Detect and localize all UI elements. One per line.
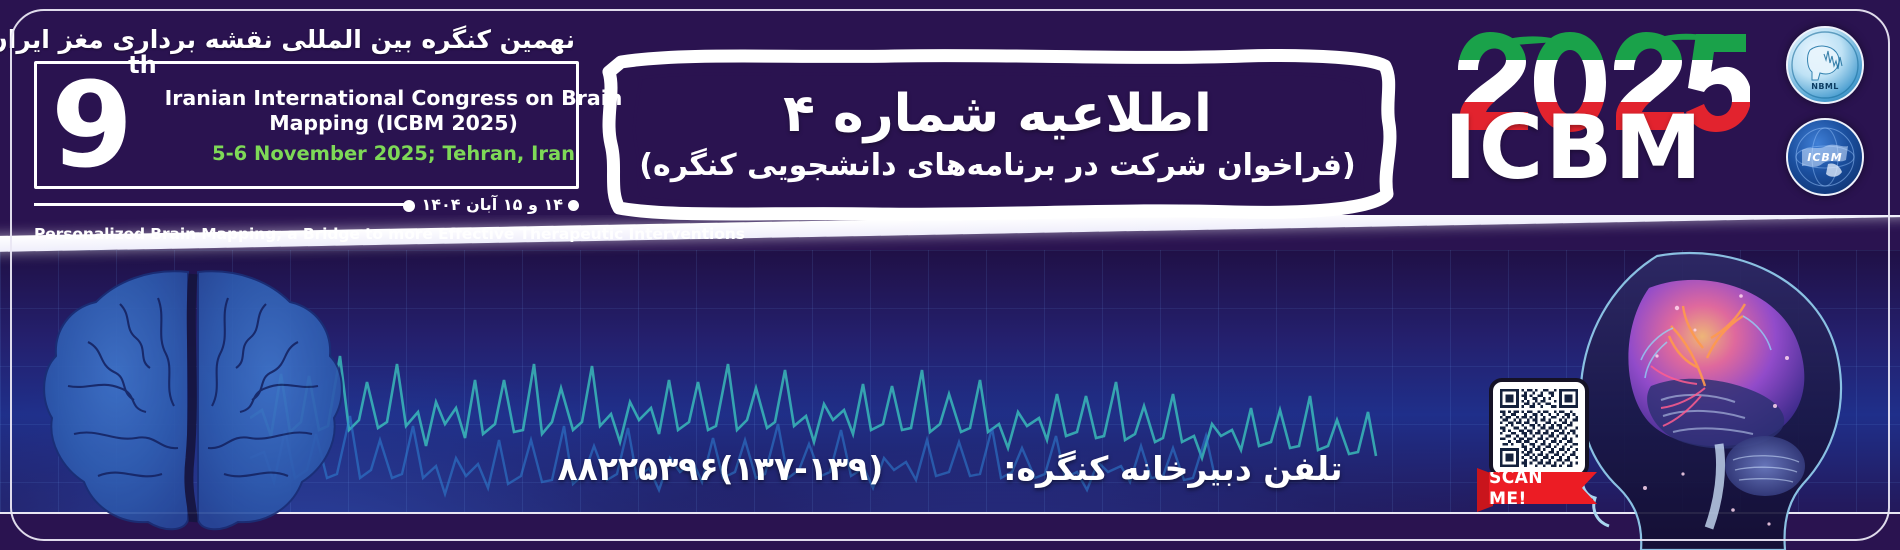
- nbml-badge: NBML: [1786, 26, 1864, 104]
- year-2025-logo: ICBM: [1450, 20, 1750, 130]
- contact-phone: ۸۸۲۲۵۳۹۶(۱۳۷-۱۳۹): [557, 449, 883, 488]
- congress-ordinal: 9th: [51, 77, 159, 174]
- icbm-badge-label: ICBM: [1788, 151, 1862, 164]
- contact-row: تلفن دبیرخانه کنگره: ۸۸۲۲۵۳۹۶(۱۳۷-۱۳۹): [0, 438, 1900, 498]
- congress-fa-date: ۱۴ و ۱۵ آبان ۱۴۰۴: [421, 195, 579, 214]
- congress-title-box: 9th Iranian International Congress on Br…: [34, 61, 579, 189]
- announcement-title: اطلاعیه شماره ۴: [783, 86, 1212, 143]
- congress-logo: نهمین کنگره بین المللی نقشه برداری مغز ا…: [34, 22, 579, 237]
- congress-fa-title: نهمین کنگره بین المللی نقشه برداری مغز ا…: [0, 25, 575, 54]
- announcement-subtitle: (فراخوان شرکت در برنامه‌های دانشجویی کنگ…: [639, 147, 1355, 185]
- ordinal-number: 9: [51, 56, 128, 194]
- congress-en-title-line1: Iranian International Congress on Brain: [165, 86, 623, 111]
- congress-en-title-line2: Mapping (ICBM 2025): [165, 111, 623, 136]
- nbml-badge-label: NBML: [1788, 82, 1862, 91]
- congress-en-date: 5-6 November 2025; Tehran, Iran: [165, 142, 623, 165]
- ordinal-suffix: th: [128, 51, 157, 79]
- qr-code-block[interactable]: SCAN ME!: [1489, 378, 1607, 513]
- contact-label: تلفن دبیرخانه کنگره:: [1003, 449, 1342, 488]
- scan-me-ribbon: SCAN ME!: [1477, 472, 1599, 508]
- qr-code-image[interactable]: [1489, 378, 1589, 478]
- ribbon-body: SCAN ME!: [1489, 472, 1597, 504]
- brand-acronym: ICBM: [1444, 104, 1704, 192]
- brand-logo-2025-icbm: ICBM: [1450, 20, 1750, 220]
- icbm-badge: ICBM: [1786, 118, 1864, 196]
- congress-tagline: Personalized Brain Mapping, a Bridge to …: [34, 225, 579, 243]
- announcement-plaque: اطلاعیه شماره ۴ (فراخوان شرکت در برنامه‌…: [595, 48, 1400, 223]
- scan-me-label: SCAN ME!: [1489, 466, 1597, 510]
- icbm-announcement-banner: نهمین کنگره بین المللی نقشه برداری مغز ا…: [0, 0, 1900, 550]
- logo-lead-line-2: [34, 203, 413, 206]
- institution-badges: NBML ICBM: [1786, 26, 1864, 196]
